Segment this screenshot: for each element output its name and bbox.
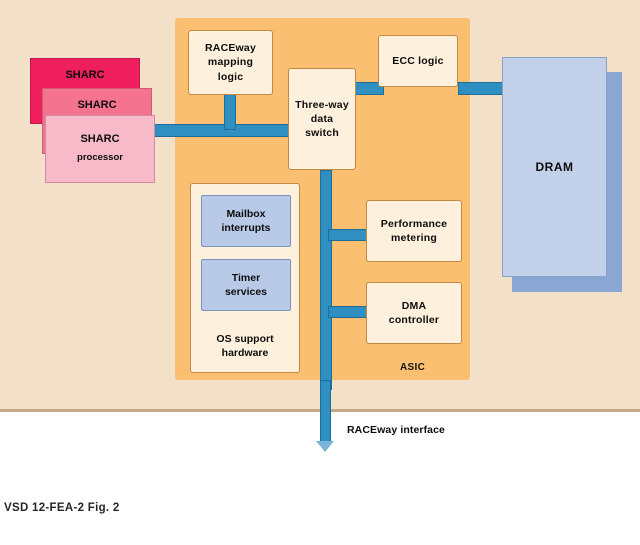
raceway-mapping-logic-line1: RACEway — [205, 42, 256, 54]
figure-caption: VSD 12-FEA-2 Fig. 2 — [4, 502, 120, 514]
timer-services-box[interactable]: Timer services — [201, 259, 291, 311]
raceway-mapping-logic-box[interactable]: RACEway mapping logic — [188, 30, 273, 95]
os-support-line1: OS support — [216, 333, 273, 345]
dma-controller-box[interactable]: DMA controller — [366, 282, 462, 344]
performance-metering-line1: Performance — [381, 218, 447, 230]
dram-box[interactable]: DRAM — [502, 57, 607, 277]
bus-sharc-to-switch — [150, 124, 296, 137]
performance-metering-label: Performance metering — [381, 217, 447, 245]
raceway-mapping-logic-line3: logic — [218, 71, 244, 83]
diagram-canvas: ASIC SHARC SHARC SHARC processor RACEway… — [0, 0, 640, 545]
mailbox-interrupts-label: Mailbox interrupts — [221, 207, 270, 235]
asic-label: ASIC — [400, 362, 425, 373]
ecc-logic-box[interactable]: ECC logic — [378, 35, 458, 87]
performance-metering-line2: metering — [391, 232, 437, 244]
raceway-interface-arrow-icon — [316, 441, 334, 452]
bus-main-to-performance-metering — [328, 229, 368, 241]
dma-controller-line2: controller — [389, 314, 439, 326]
three-way-data-switch-line3: switch — [305, 127, 339, 139]
bus-switch-vertical-main — [320, 170, 332, 390]
sharc-label-1: SHARC — [65, 68, 104, 84]
timer-services-line1: Timer — [232, 272, 260, 284]
sharc-label-3: SHARC — [80, 133, 119, 145]
sharc-label-2: SHARC — [77, 98, 116, 114]
dma-controller-label: DMA controller — [389, 299, 439, 327]
raceway-mapping-logic-line2: mapping — [208, 56, 253, 68]
os-support-hardware-panel: Mailbox interrupts Timer services OS sup… — [190, 183, 300, 373]
raceway-mapping-logic-label: RACEway mapping logic — [205, 41, 256, 84]
dma-controller-line1: DMA — [402, 300, 427, 312]
os-support-hardware-label: OS support hardware — [191, 332, 299, 360]
three-way-data-switch-line2: data — [311, 113, 333, 125]
sharc-processor-box-3[interactable]: SHARC processor — [45, 115, 155, 183]
sharc-label-3-group: SHARC processor — [77, 132, 123, 165]
bus-ecc-to-dram — [458, 82, 506, 95]
bus-mapping-logic-to-main — [224, 92, 236, 130]
mailbox-interrupts-box[interactable]: Mailbox interrupts — [201, 195, 291, 247]
three-way-data-switch-line1: Three-way — [295, 99, 349, 111]
raceway-interface-stem — [320, 380, 331, 444]
three-way-data-switch-box[interactable]: Three-way data switch — [288, 68, 356, 170]
performance-metering-box[interactable]: Performance metering — [366, 200, 462, 262]
dram-label: DRAM — [536, 160, 574, 174]
os-support-line2: hardware — [222, 347, 269, 359]
timer-services-label: Timer services — [225, 271, 267, 299]
bus-main-to-dma-controller — [328, 306, 368, 318]
mailbox-interrupts-line1: Mailbox — [226, 208, 265, 220]
raceway-interface-label: RACEway interface — [347, 424, 445, 436]
mailbox-interrupts-line2: interrupts — [221, 222, 270, 234]
sharc-sublabel-3: processor — [77, 151, 123, 165]
timer-services-line2: services — [225, 286, 267, 298]
ecc-logic-label: ECC logic — [392, 54, 443, 68]
three-way-data-switch-label: Three-way data switch — [295, 98, 349, 141]
